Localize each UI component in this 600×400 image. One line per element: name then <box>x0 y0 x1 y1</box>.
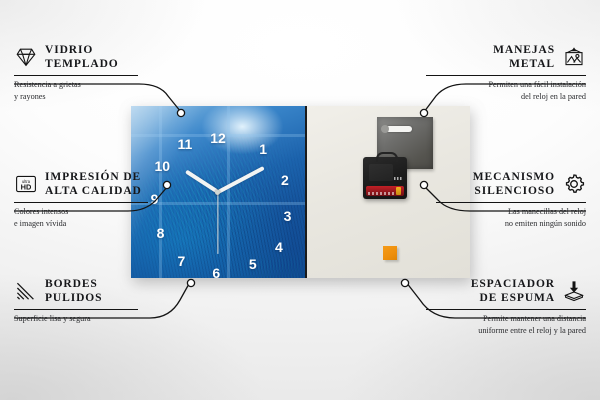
numeral-2: 2 <box>281 173 289 187</box>
callout-description: Permiten una fácil instalación del reloj… <box>426 79 586 102</box>
callout-header: MECANISMO SILENCIOSO <box>436 170 586 199</box>
numeral-3: 3 <box>284 209 292 223</box>
callout-description-line2: del reloj en la pared <box>426 91 586 103</box>
callout-divider <box>436 202 586 203</box>
svg-text:HD: HD <box>21 183 32 192</box>
callout-description-line1: Colores intensos <box>14 206 164 218</box>
callout-description-line2: uniforme entre el reloj y la pared <box>426 325 586 337</box>
diamond-icon <box>14 45 38 69</box>
callout-title-line1: BORDES <box>45 277 102 291</box>
callout-mecanismo-silencioso: MECANISMO SILENCIOSO Las manecillas del … <box>436 170 586 229</box>
callout-title-line1: IMPRESIÓN DE <box>45 170 142 184</box>
anchor-dot-bordes <box>187 279 194 286</box>
callout-description-line1: Permite mantener una distancia <box>426 313 586 325</box>
callout-title-line1: MECANISMO <box>473 170 555 184</box>
callout-title-line1: ESPACIADOR <box>471 277 555 291</box>
numeral-4: 4 <box>275 240 283 254</box>
callout-description: Resistencia a grietas y rayones <box>14 79 154 102</box>
numeral-12: 12 <box>210 131 226 145</box>
callout-description: Colores intensos e imagen vívida <box>14 206 164 229</box>
hanger-keyhole-slot <box>386 126 412 132</box>
callout-description-line2: y rayones <box>14 91 154 103</box>
callout-divider <box>426 75 586 76</box>
silent-mechanism-box <box>363 157 407 199</box>
callout-description-line1: Las manecillas del reloj <box>436 206 586 218</box>
battery-label <box>368 192 394 195</box>
callout-divider <box>14 75 138 76</box>
mechanism-hanging-loop <box>376 152 398 162</box>
callout-title-line1: VIDRIO <box>45 43 119 57</box>
foam-spacer-arrow-icon <box>562 279 586 303</box>
callout-description-line1: Superficie lisa y segura <box>14 313 154 325</box>
callout-manejas-metal: MANEJAS METAL Permiten una fácil instala… <box>426 43 586 102</box>
mechanism-panel <box>369 164 393 181</box>
callout-description-line2: no emiten ningún sonido <box>436 218 586 230</box>
callout-header: ESPACIADOR DE ESPUMA <box>426 277 586 306</box>
callout-title-line2: ALTA CALIDAD <box>45 184 142 198</box>
numeral-1: 1 <box>259 142 267 156</box>
numeral-11: 11 <box>178 137 193 151</box>
callout-description: Superficie lisa y segura <box>14 313 154 325</box>
callout-description: Permite mantener una distancia uniforme … <box>426 313 586 336</box>
product-image: 12 1 2 3 4 5 6 7 8 9 10 11 <box>131 106 470 278</box>
callout-bordes-pulidos: BORDES PULIDOS Superficie lisa y segura <box>14 277 154 325</box>
callout-title-line1: MANEJAS <box>493 43 555 57</box>
callout-header: ultra HD IMPRESIÓN DE ALTA CALIDAD <box>14 170 164 199</box>
callout-header: MANEJAS METAL <box>426 43 586 72</box>
callout-title: MANEJAS METAL <box>493 43 555 72</box>
callout-impresion-alta-calidad: ultra HD IMPRESIÓN DE ALTA CALIDAD Color… <box>14 170 164 229</box>
callout-espaciador-espuma: ESPACIADOR DE ESPUMA Permite mantener un… <box>426 277 586 336</box>
callout-title: ESPACIADOR DE ESPUMA <box>471 277 555 306</box>
callout-divider <box>426 309 586 310</box>
numeral-7: 7 <box>178 254 186 268</box>
callout-title-line2: PULIDOS <box>45 291 102 305</box>
callout-divider <box>14 309 138 310</box>
callout-description-line1: Permiten una fácil instalación <box>426 79 586 91</box>
callout-vidrio-templado: VIDRIO TEMPLADO Resistencia a grietas y … <box>14 43 154 102</box>
mechanism-label-dots <box>394 177 403 180</box>
callout-description: Las manecillas del reloj no emiten ningú… <box>436 206 586 229</box>
numeral-5: 5 <box>249 257 257 271</box>
anchor-dot-espaciador <box>401 279 408 286</box>
callout-title-line2: METAL <box>493 57 555 71</box>
callout-description-line1: Resistencia a grietas <box>14 79 154 91</box>
infographic-canvas: 12 1 2 3 4 5 6 7 8 9 10 11 <box>0 0 600 400</box>
wall-hanger-picture-icon <box>562 45 586 69</box>
callout-header: BORDES PULIDOS <box>14 277 154 306</box>
callout-description-line2: e imagen vívida <box>14 218 164 230</box>
polished-edges-icon <box>14 279 38 303</box>
callout-header: VIDRIO TEMPLADO <box>14 43 154 72</box>
callout-title: BORDES PULIDOS <box>45 277 102 306</box>
ultra-hd-icon: ultra HD <box>14 172 38 196</box>
callout-title-line2: TEMPLADO <box>45 57 119 71</box>
callout-title-line2: SILENCIOSO <box>473 184 555 198</box>
numeral-6: 6 <box>212 266 220 278</box>
gear-icon <box>562 172 586 196</box>
callout-title: IMPRESIÓN DE ALTA CALIDAD <box>45 170 142 199</box>
callout-title: VIDRIO TEMPLADO <box>45 43 119 72</box>
foam-spacer-pad <box>383 246 397 260</box>
callout-title-line2: DE ESPUMA <box>471 291 555 305</box>
callout-divider <box>14 202 148 203</box>
callout-title: MECANISMO SILENCIOSO <box>473 170 555 199</box>
